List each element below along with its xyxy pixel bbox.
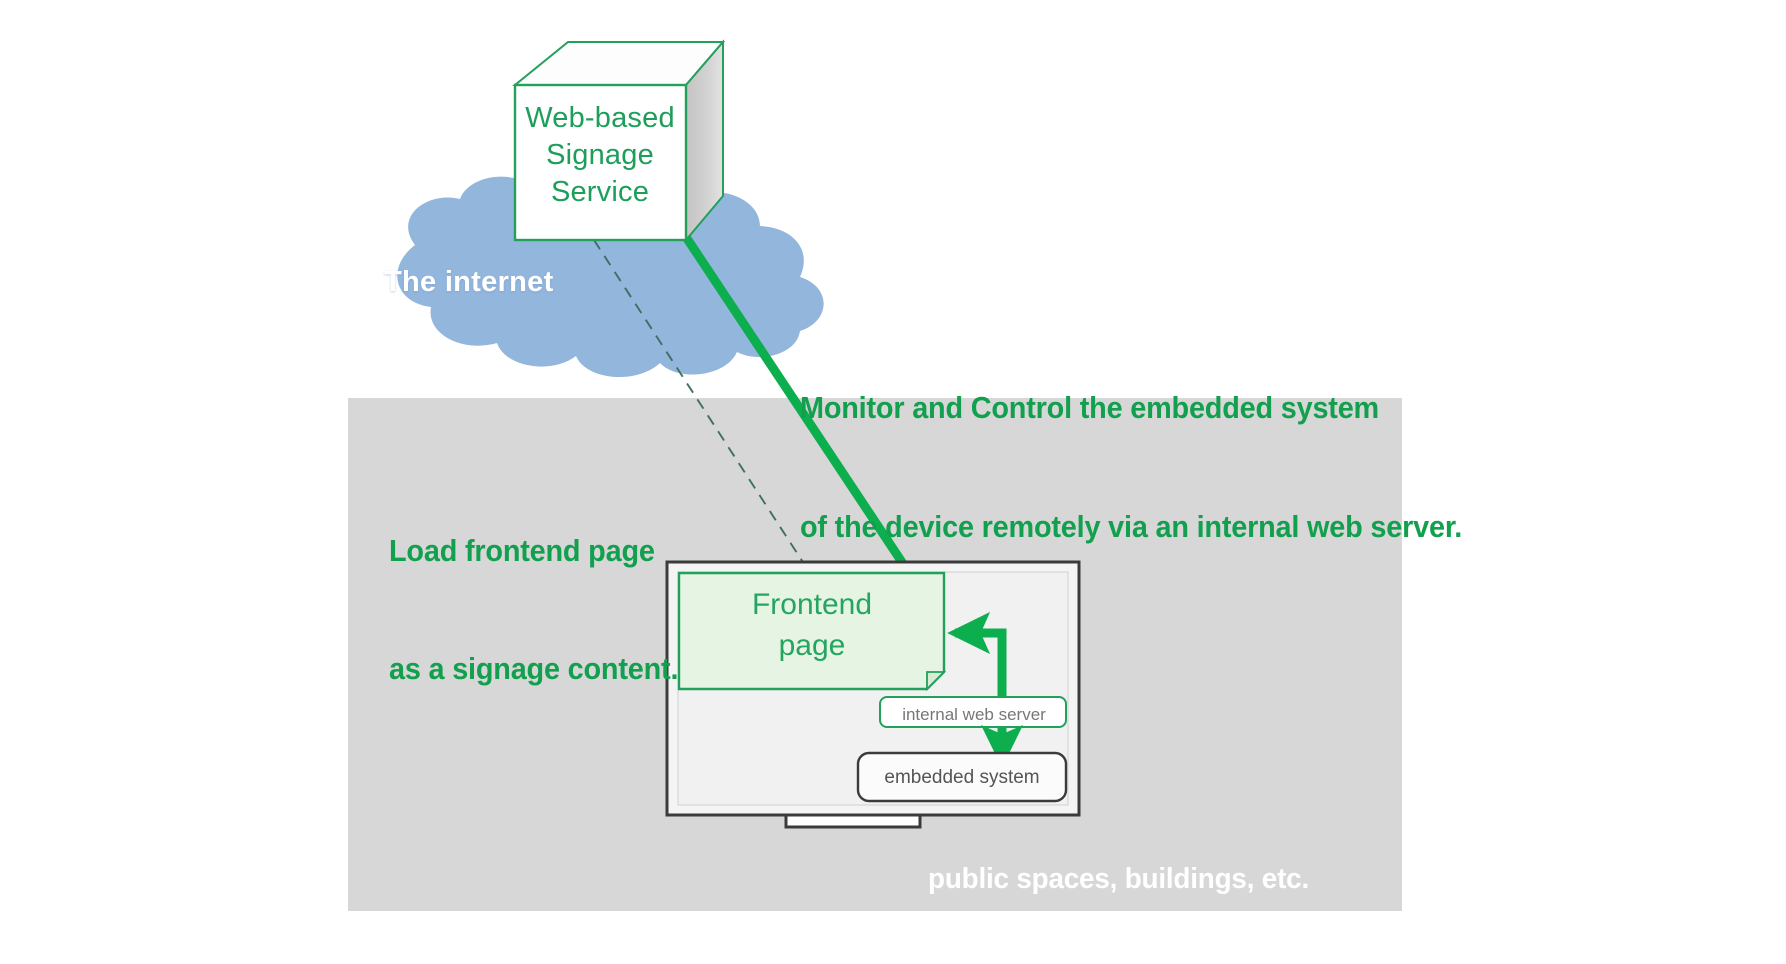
monitor-stand [786, 815, 920, 827]
diagram-canvas: Web-based Signage Service The internet M… [0, 0, 1786, 964]
frontend-page-note-label: Frontend page [681, 584, 943, 667]
embedded-system-label: embedded system [862, 767, 1062, 789]
cloud-label: The internet [384, 265, 554, 299]
annotation-monitor-control-line1: Monitor and Control the embedded system [800, 388, 1462, 428]
annotation-monitor-control: Monitor and Control the embedded system … [800, 309, 1462, 626]
internal-web-server-label: internal web server [884, 705, 1064, 725]
annotation-load-frontend: Load frontend page as a signage content. [389, 452, 678, 767]
annotation-load-frontend-line2: as a signage content. [389, 649, 678, 688]
cube-label: Web-based Signage Service [515, 100, 685, 211]
annotation-monitor-control-line2: of the device remotely via an internal w… [800, 507, 1462, 547]
room-area-label: public spaces, buildings, etc. [928, 862, 1309, 896]
annotation-load-frontend-line1: Load frontend page [389, 531, 678, 570]
